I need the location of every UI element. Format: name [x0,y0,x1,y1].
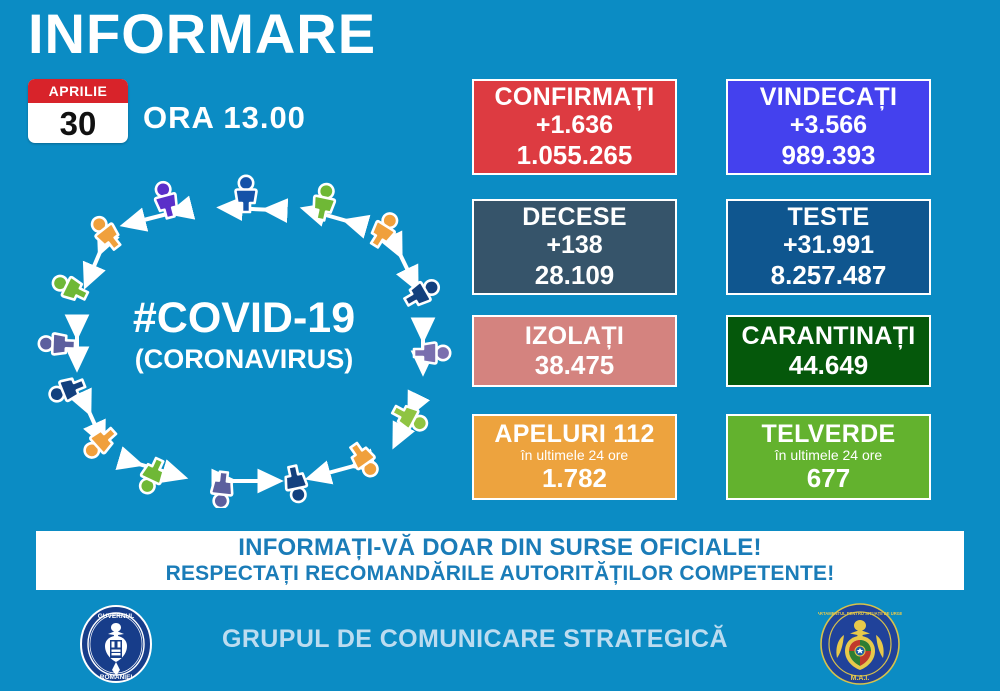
stat-total: 989.393 [782,140,876,171]
stat-total: 8.257.487 [771,260,887,291]
stat-box-apeluri-112: APELURI 112 în ultimele 24 ore 1.782 [472,414,677,500]
stat-label: APELURI 112 [494,420,654,448]
stat-label: CARANTINAȚI [741,322,915,350]
stat-label: CONFIRMAȚI [495,83,655,111]
stat-box-carantinati: CARANTINAȚI 44.649 [726,315,931,387]
official-sources-banner: INFORMAȚI-VĂ DOAR DIN SURSE OFICIALE! RE… [36,531,964,590]
infographic-page: INFORMARE APRILIE 30 ORA 13.00 [0,0,1000,688]
calendar-icon: APRILIE 30 [28,79,128,143]
stat-label: IZOLAȚI [525,322,624,350]
stat-sublabel: în ultimele 24 ore [521,448,628,463]
logo-outer-text: GUVERNUL [98,613,135,620]
stat-label: TELVERDE [762,420,896,448]
page-title: INFORMARE [28,2,376,66]
stat-delta: +31.991 [783,231,874,261]
logo-inner-text: M.A.I. [851,675,870,682]
stat-total: 28.109 [535,260,615,291]
logo-inner-text: ROMÂNIEI [100,672,133,681]
calendar-day-label: 30 [28,103,128,143]
stat-box-confirmati: CONFIRMAȚI +1.636 1.055.265 [472,79,677,175]
stat-total: 677 [807,463,850,494]
stat-box-teste: TESTE +31.991 8.257.487 [726,199,931,295]
stat-delta: +3.566 [790,111,867,141]
stat-delta: +1.636 [536,111,613,141]
stat-total: 44.649 [789,350,869,381]
stat-total: 1.782 [542,463,607,494]
report-hour: ORA 13.00 [143,100,306,136]
stat-box-izolati: IZOLAȚI 38.475 [472,315,677,387]
stat-delta: +138 [546,231,602,261]
calendar-month-label: APRILIE [28,79,128,103]
stat-label: TESTE [787,203,869,231]
stat-box-telverde: TELVERDE în ultimele 24 ore 677 [726,414,931,500]
banner-line-1: INFORMAȚI-VĂ DOAR DIN SURSE OFICIALE! [238,535,761,562]
stat-total: 1.055.265 [517,140,633,171]
stat-sublabel: în ultimele 24 ore [775,448,882,463]
people-circle-icon [24,168,464,508]
stat-label: VINDECAȚI [760,83,897,111]
stat-label: DECESE [522,203,627,231]
stat-box-vindecati: VINDECAȚI +3.566 989.393 [726,79,931,175]
stat-total: 38.475 [535,350,615,381]
banner-line-2: RESPECTAȚI RECOMANDĂRILE AUTORITĂȚILOR C… [166,562,835,586]
guvernul-romaniei-logo: GUVERNUL ROMÂNIEI [78,604,154,684]
footer-organization-name: GRUPUL DE COMUNICARE STRATEGICĂ [222,625,728,654]
stat-box-decese: DECESE +138 28.109 [472,199,677,295]
logo-outer-text: DEPARTAMENTUL PENTRU SITUAȚII DE URGENȚĂ [818,611,902,616]
dsu-mai-logo: DEPARTAMENTUL PENTRU SITUAȚII DE URGENȚĂ… [818,602,902,686]
